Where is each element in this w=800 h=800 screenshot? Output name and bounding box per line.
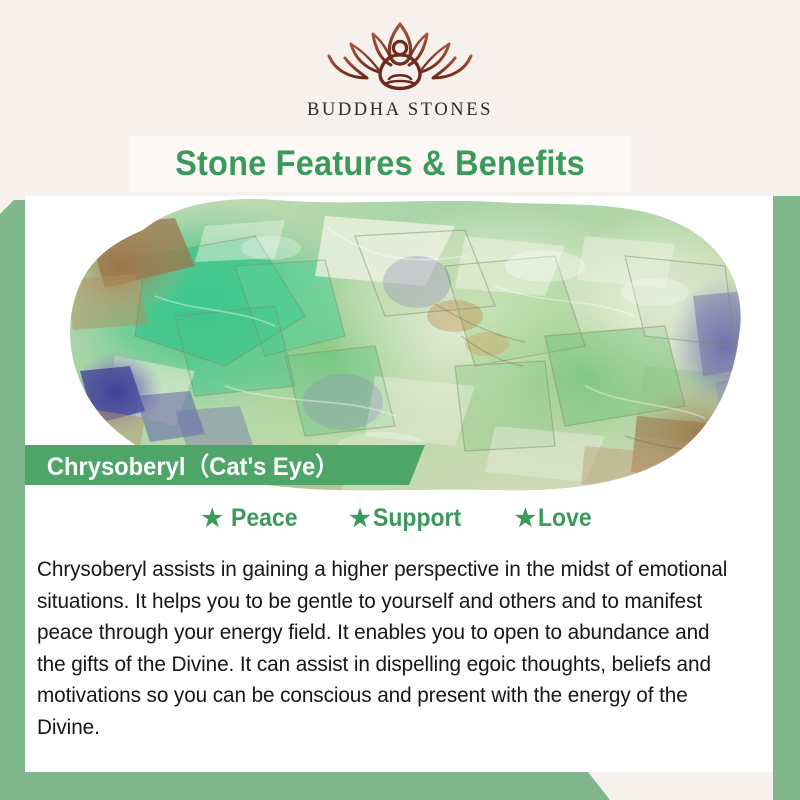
decorative-bar-left xyxy=(0,200,25,800)
stone-name-label: Chrysoberyl（Cat's Eye） xyxy=(25,447,339,483)
benefit-label-peace: Peace xyxy=(231,506,298,531)
benefits-row: ★ Peace ★ Support ★ Love xyxy=(25,506,773,531)
stone-name-banner: Chrysoberyl（Cat's Eye） xyxy=(25,445,425,485)
brand-logo: BUDDHA STONES xyxy=(0,18,800,121)
benefit-tag-peace: ★ Peace xyxy=(201,506,303,531)
star-icon: ★ xyxy=(515,507,537,531)
benefit-label-support: Support xyxy=(373,506,461,531)
header-area: BUDDHA STONES Stone Features & Benefits xyxy=(0,0,800,196)
star-icon: ★ xyxy=(349,507,371,531)
infographic-page: BUDDHA STONES Stone Features & Benefits xyxy=(0,0,800,800)
decorative-bar-bottom xyxy=(0,772,800,800)
lotus-meditation-icon xyxy=(315,18,485,96)
content-panel: Chrysoberyl（Cat's Eye） ★ Peace ★ Support… xyxy=(25,196,773,772)
benefit-label-love: Love xyxy=(538,506,592,531)
star-icon: ★ xyxy=(201,507,223,531)
page-title: Stone Features & Benefits xyxy=(148,140,613,188)
benefit-tag-support: ★ Support xyxy=(349,506,468,531)
benefit-tag-love: ★ Love xyxy=(515,506,597,531)
stone-description: Chrysoberyl assists in gaining a higher … xyxy=(37,554,736,743)
brand-name: BUDDHA STONES xyxy=(307,100,493,121)
